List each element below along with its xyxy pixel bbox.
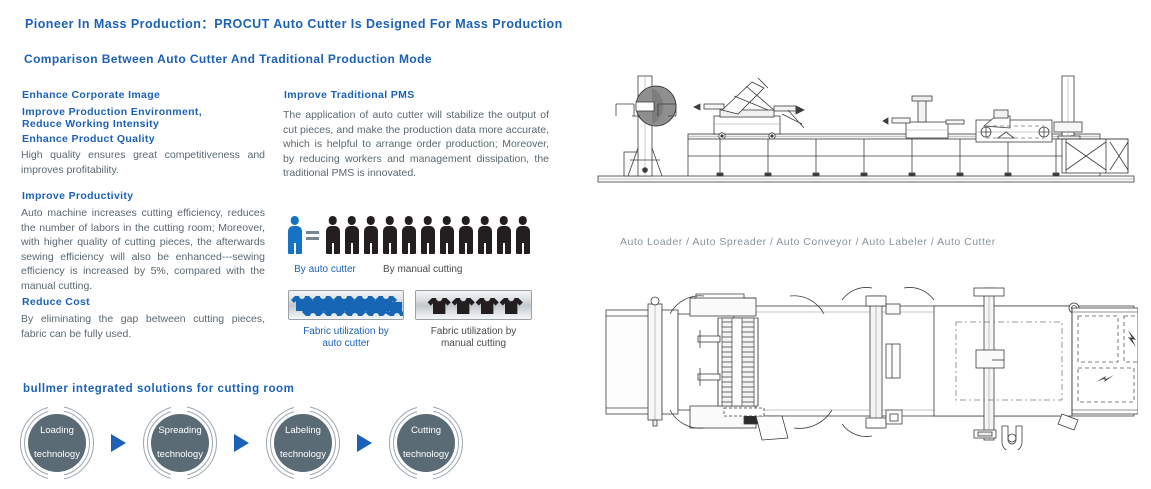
side-elevation-svg: ↔: [596, 74, 1136, 190]
people-row: [286, 216, 533, 254]
ring-gap-bottom: [171, 471, 187, 481]
process-step-loading[interactable]: Loadingtechnology: [20, 406, 94, 480]
heading-reduce-cost: Reduce Cost: [22, 296, 272, 309]
person-leg-split: [446, 243, 448, 254]
label-by-manual-cutting: By manual cutting: [383, 263, 507, 276]
text-reduce-cost: By eliminating the gap between cutting p…: [21, 312, 265, 341]
process-step-label-line2: technology: [157, 449, 203, 461]
person-head: [404, 216, 413, 225]
person-leg-split: [503, 243, 505, 254]
heading-improve-productivity: Improve Productivity: [22, 190, 272, 203]
process-step-label: Loadingtechnology: [34, 425, 80, 461]
person-leg-split: [370, 243, 372, 254]
ring-gap-bottom: [417, 471, 433, 481]
person-icon-manual: [457, 216, 474, 254]
person-icon-manual: [514, 216, 531, 254]
page-title: Pioneer In Mass Production：PROCUT Auto C…: [25, 13, 563, 32]
process-step-label-line1: Cutting: [403, 425, 449, 437]
process-disc: Spreadingtechnology: [151, 414, 209, 472]
text-enhance-product-quality: High quality ensures great competitivene…: [21, 148, 265, 177]
person-leg-split: [294, 243, 296, 254]
ring-gap-bottom: [294, 471, 310, 481]
person-icon-manual: [381, 216, 398, 254]
person-leg-split: [351, 243, 353, 254]
equals-sign-icon: [306, 225, 319, 245]
process-step-cutting[interactable]: Cuttingtechnology: [389, 406, 463, 480]
process-step-label: Cuttingtechnology: [403, 425, 449, 461]
cutting-line-side-elevation: ↔: [596, 74, 1136, 190]
person-head: [518, 216, 527, 225]
process-disc: Cuttingtechnology: [397, 414, 455, 472]
person-leg-split: [408, 243, 410, 254]
svg-text:↔: ↔: [1070, 132, 1074, 137]
person-icon-manual: [495, 216, 512, 254]
process-step-label-line1: Loading: [34, 425, 80, 437]
process-step-label-line2: technology: [34, 449, 80, 461]
process-arrow-icon: [234, 434, 249, 452]
page-subtitle: Comparison Between Auto Cutter And Tradi…: [24, 52, 432, 66]
text-improve-traditional-pms: The application of auto cutter will stab…: [283, 108, 549, 181]
process-step-spreading[interactable]: Spreadingtechnology: [143, 406, 217, 480]
caption-machine-line: Auto Loader / Auto Spreader / Auto Conve…: [620, 236, 996, 248]
process-arrow-icon: [357, 434, 372, 452]
text-improve-productivity: Auto machine increases cutting efficienc…: [21, 206, 265, 293]
process-step-label-line1: Spreading: [157, 425, 203, 437]
process-step-label: Spreadingtechnology: [157, 425, 203, 461]
person-head: [423, 216, 432, 225]
process-arrow-icon: [111, 434, 126, 452]
person-head: [366, 216, 375, 225]
person-leg-split: [465, 243, 467, 254]
person-icon-manual: [476, 216, 493, 254]
process-step-label: Labelingtechnology: [280, 425, 326, 461]
person-head: [499, 216, 508, 225]
fabric-panel-auto: [288, 290, 404, 320]
person-leg-split: [522, 243, 524, 254]
person-head: [347, 216, 356, 225]
ring-gap-bottom: [48, 471, 64, 481]
process-disc: Labelingtechnology: [274, 414, 332, 472]
heading-enhance-product-quality: Enhance Product Quality: [22, 133, 272, 146]
person-icon-manual: [438, 216, 455, 254]
heading-improve-traditional-pms: Improve Traditional PMS: [284, 89, 554, 102]
cutting-line-plan-view: [604, 278, 1138, 450]
heading-reduce-working-intensity: Reduce Working Intensity: [22, 118, 272, 131]
fabric-nesting-auto-icon: [289, 291, 404, 320]
process-step-label-line2: technology: [403, 449, 449, 461]
person-icon-manual: [362, 216, 379, 254]
person-leg-split: [427, 243, 429, 254]
person-head: [442, 216, 451, 225]
person-icon-auto: [286, 216, 303, 254]
person-icon-manual: [419, 216, 436, 254]
label-by-auto-cutter: By auto cutter: [283, 263, 367, 276]
person-leg-split: [389, 243, 391, 254]
caption-fabric-auto-line2: auto cutter: [288, 337, 404, 350]
person-head: [461, 216, 470, 225]
caption-fabric-manual-line2: manual cutting: [415, 337, 532, 350]
process-step-label-line2: technology: [280, 449, 326, 461]
plan-view-svg: [604, 278, 1138, 450]
person-head: [328, 216, 337, 225]
process-flow: LoadingtechnologySpreadingtechnologyLabe…: [20, 406, 463, 480]
people-row-manual: [324, 216, 533, 254]
person-leg-split: [332, 243, 334, 254]
process-step-label-line1: Labeling: [280, 425, 326, 437]
process-flow-heading: bullmer integrated solutions for cutting…: [23, 383, 294, 395]
person-head: [385, 216, 394, 225]
labor-comparison-graphic: [286, 216, 533, 254]
fabric-nesting-manual-icon: [416, 291, 532, 320]
person-head: [480, 216, 489, 225]
fabric-panel-manual: [415, 290, 532, 320]
person-leg-split: [484, 243, 486, 254]
person-icon-manual: [400, 216, 417, 254]
person-head: [290, 216, 299, 225]
heading-enhance-corporate-image: Enhance Corporate Image: [22, 89, 272, 102]
process-disc: Loadingtechnology: [28, 414, 86, 472]
person-icon-manual: [343, 216, 360, 254]
person-icon-manual: [324, 216, 341, 254]
process-step-labeling[interactable]: Labelingtechnology: [266, 406, 340, 480]
